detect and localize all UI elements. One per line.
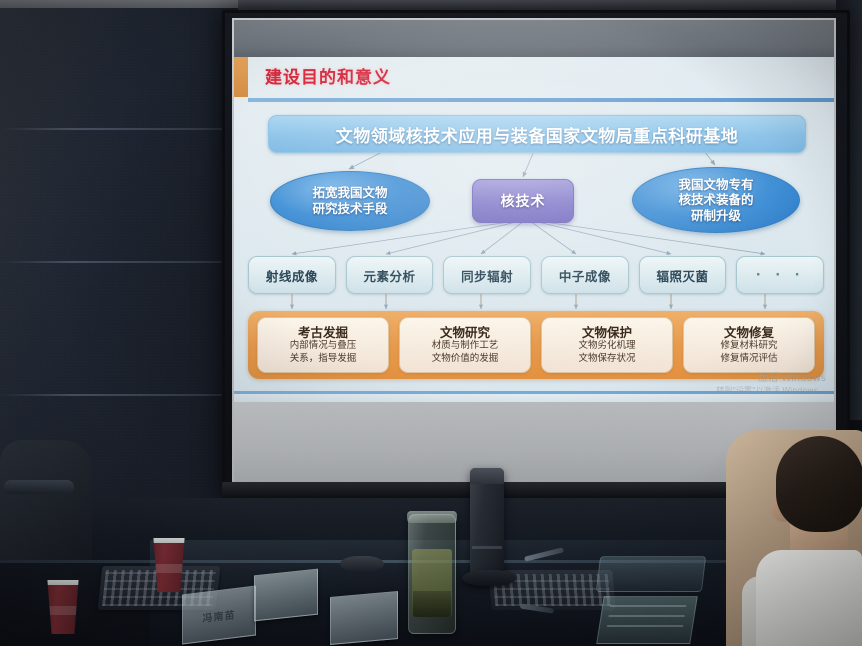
technique-box-ellipsis: · · · bbox=[736, 256, 824, 294]
application-box: 文物修复 修复材料研究 修复情况评估 bbox=[683, 317, 815, 373]
tea-bottle-cap bbox=[407, 511, 457, 523]
table-puck bbox=[340, 556, 384, 572]
tea-bottle bbox=[408, 514, 456, 634]
technique-box: 同步辐射 bbox=[443, 256, 531, 294]
technique-label: 辐照灭菌 bbox=[657, 266, 709, 285]
goal-node-right: 我国文物专有核技术装备的研制升级 bbox=[632, 167, 800, 233]
name-placard bbox=[254, 569, 318, 622]
thermos-cap bbox=[470, 468, 504, 484]
slide-top-shadow-band bbox=[234, 20, 834, 57]
orange-accent-bar bbox=[234, 57, 248, 97]
heading-divider-rule bbox=[248, 98, 834, 102]
thermos-ring bbox=[472, 546, 502, 549]
goal-node-right-text: 我国文物专有核技术装备的研制升级 bbox=[678, 177, 753, 224]
person-head bbox=[776, 436, 862, 532]
presentation-slide: 建设目的和意义 bbox=[234, 20, 834, 402]
application-line-2: 文物价值的发掘 bbox=[432, 353, 499, 365]
slide-heading: 建设目的和意义 bbox=[265, 63, 391, 88]
technique-label: · · · bbox=[756, 268, 805, 283]
application-line-1: 材质与制作工艺 bbox=[432, 340, 499, 352]
paper-line bbox=[610, 605, 686, 607]
left-wall-panels bbox=[0, 8, 238, 500]
watermark-line-1: 激活 Windows bbox=[716, 372, 826, 386]
technique-label: 元素分析 bbox=[364, 266, 416, 285]
technique-label: 中子成像 bbox=[559, 266, 611, 285]
conference-room-photo: 建设目的和意义 bbox=[0, 0, 862, 646]
application-line-1: 内部情况与叠压 bbox=[290, 340, 357, 352]
application-line-1: 文物劣化机理 bbox=[578, 340, 635, 352]
cup-band bbox=[154, 564, 184, 573]
application-line-2: 修复情况评估 bbox=[720, 353, 777, 365]
watermark-line-2: 转到"设置"以激活 Windows。 bbox=[716, 386, 826, 397]
thermos bbox=[470, 468, 504, 580]
goal-node-left: 拓宽我国文物研究技术手段 bbox=[270, 171, 430, 231]
application-line-2: 文物保存状况 bbox=[578, 353, 635, 365]
wall-seam bbox=[0, 261, 238, 263]
technique-label: 射线成像 bbox=[266, 266, 318, 285]
application-title: 文物修复 bbox=[724, 325, 774, 340]
technique-box: 元素分析 bbox=[346, 256, 434, 294]
wall-seam bbox=[0, 394, 238, 396]
chair-armrest bbox=[4, 480, 74, 494]
technique-box: 中子成像 bbox=[541, 256, 629, 294]
application-title: 文物研究 bbox=[440, 325, 490, 340]
goal-node-left-text: 拓宽我国文物研究技术手段 bbox=[312, 185, 387, 216]
application-box: 文物研究 材质与制作工艺 文物价值的发掘 bbox=[399, 317, 531, 373]
document-tray bbox=[596, 556, 706, 592]
paper-sheet bbox=[596, 596, 698, 644]
person-shirt bbox=[756, 550, 862, 646]
name-placard-text: 冯南苗 bbox=[203, 605, 236, 624]
wall-seam bbox=[0, 128, 238, 130]
name-placard bbox=[330, 591, 398, 645]
technique-label: 同步辐射 bbox=[461, 266, 513, 285]
application-box: 文物保护 文物劣化机理 文物保存状况 bbox=[541, 317, 673, 373]
paper-line bbox=[608, 615, 684, 617]
core-technology-label: 核技术 bbox=[501, 191, 546, 211]
windows-activation-watermark: 激活 Windows 转到"设置"以激活 Windows。 bbox=[716, 372, 826, 396]
application-line-2: 关系，指导发掘 bbox=[290, 353, 357, 365]
application-title: 考古发掘 bbox=[298, 325, 348, 340]
application-title: 文物保护 bbox=[582, 325, 632, 340]
application-band: 考古发掘 内部情况与叠压 关系，指导发掘 文物研究 材质与制作工艺 文物价值的发… bbox=[248, 311, 824, 379]
technique-box: 辐照灭菌 bbox=[639, 256, 727, 294]
core-technology-node: 核技术 bbox=[472, 179, 574, 223]
chair-left bbox=[0, 440, 92, 560]
technique-row: 射线成像 元素分析 同步辐射 中子成像 辐照灭菌 · · · bbox=[248, 256, 824, 294]
microphone-base bbox=[462, 570, 516, 586]
name-placard: 冯南苗 bbox=[182, 585, 256, 644]
diagram-main-title: 文物领域核技术应用与装备国家文物局重点科研基地 bbox=[268, 115, 806, 153]
application-line-1: 修复材料研究 bbox=[720, 340, 777, 352]
application-box: 考古发掘 内部情况与叠压 关系，指导发掘 bbox=[257, 317, 389, 373]
tea-leaves bbox=[413, 591, 451, 617]
paper-line bbox=[607, 625, 683, 627]
main-title-text: 文物领域核技术应用与装备国家文物局重点科研基地 bbox=[336, 122, 739, 147]
wall-texture bbox=[0, 8, 238, 500]
technique-box: 射线成像 bbox=[248, 256, 336, 294]
cup-band bbox=[48, 606, 78, 615]
